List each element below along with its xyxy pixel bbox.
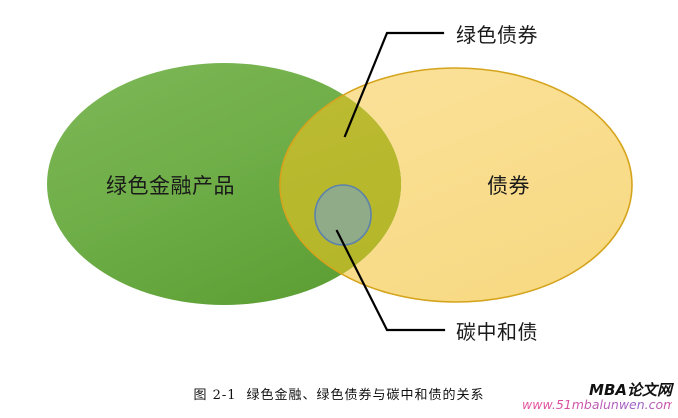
figure-caption-title: 绿色金融、绿色债券与碳中和债的关系	[247, 388, 485, 403]
set-label-bonds: 债券	[487, 170, 530, 200]
callout-label-green-bonds: 绿色债券	[456, 19, 538, 48]
watermark-brand: MBA论文网	[522, 382, 672, 398]
figure-container: 绿色金融产品 债券 绿色债券 碳中和债 图 2-1绿色金融、绿色债券与碳中和债的…	[0, 0, 678, 418]
figure-caption-number: 图 2-1	[193, 388, 236, 403]
watermark: MBA论文网 www.51mbalunwen.com	[522, 382, 672, 412]
set-carbon-neutral-bond-shape	[315, 185, 371, 245]
venn-diagram	[0, 0, 678, 418]
set-label-green-financial-products: 绿色金融产品	[106, 170, 235, 200]
callout-label-carbon-neutral-bond: 碳中和债	[456, 316, 538, 345]
watermark-url: www.51mbalunwen.com	[522, 398, 672, 412]
